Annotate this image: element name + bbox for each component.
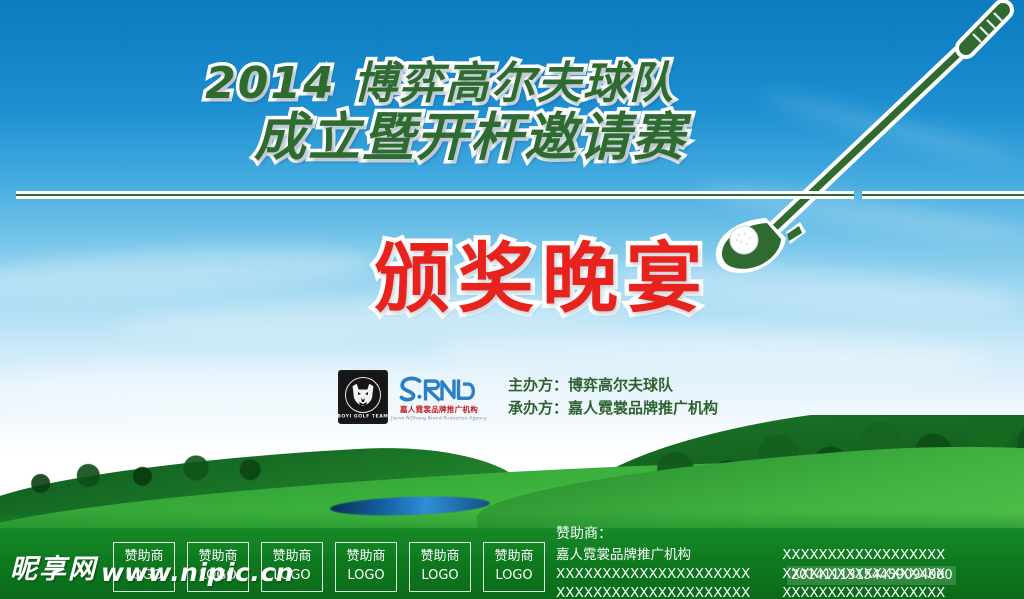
sponsor-box-logo-label: LOGO: [199, 567, 236, 586]
sponsor-box-logo-label: LOGO: [125, 567, 162, 586]
sponsor-logo-box[interactable]: 赞助商 LOGO: [335, 542, 397, 592]
sponsor-list-item: XXXXXXXXXXXXXXXXXXXXX: [556, 565, 750, 584]
sponsor-list-left: 嘉人霓裳品牌推广机构 XXXXXXXXXXXXXXXXXXXXX XXXXXXX…: [556, 546, 750, 599]
srnd-wordmark-icon: [397, 375, 481, 405]
sponsor-box-label: 赞助商: [346, 548, 385, 567]
sponsor-box-logo-label: LOGO: [347, 567, 384, 586]
sponsor-box-label: 赞助商: [124, 548, 163, 567]
sponsor-logo-box[interactable]: 赞助商 LOGO: [483, 542, 545, 592]
boyi-golf-team-logo: BOYI GOLF TEAM: [338, 370, 388, 424]
sponsor-box-logo-label: LOGO: [273, 567, 310, 586]
organizer-block: BOYI GOLF TEAM 嘉人霓裳品牌推广机构 Jiaren NiShang…: [338, 370, 718, 424]
sponsor-box-logo-label: LOGO: [495, 567, 532, 586]
headline-line-2: 成立暨开杆邀请赛: [0, 112, 880, 164]
sponsor-list-item: XXXXXXXXXXXXXXXXXXXXX: [556, 584, 750, 599]
divider-rule-left: [16, 191, 854, 199]
subtitle-text: 颁奖晚宴: [314, 241, 710, 317]
divider-rule-right: [862, 191, 1024, 199]
sponsor-box-logo-label: LOGO: [421, 567, 458, 586]
sponsor-logo-box[interactable]: 赞助商 LOGO: [187, 542, 249, 592]
team-logo-caption: BOYI GOLF TEAM: [337, 413, 388, 418]
srnd-logo-name-en: Jiaren NiShang Brand Protection Agency: [391, 415, 487, 421]
host-line: 主办方：博弈高尔夫球队: [508, 374, 718, 397]
sponsor-list-item: XXXXXXXXXXXXXXXXXX: [782, 565, 945, 584]
sponsor-list-item: XXXXXXXXXXXXXXXXXX: [782, 584, 945, 599]
organizer-line: 承办方：嘉人霓裳品牌推广机构: [508, 397, 718, 420]
sponsor-heading: 赞助商：: [556, 524, 945, 545]
sponsor-box-label: 赞助商: [420, 548, 459, 567]
sponsor-box-label: 赞助商: [272, 548, 311, 567]
organizer-text-block: 主办方：博弈高尔夫球队 承办方：嘉人霓裳品牌推广机构: [508, 374, 718, 421]
sponsor-box-label: 赞助商: [494, 548, 533, 567]
sponsor-logo-box[interactable]: 赞助商 LOGO: [409, 542, 471, 592]
sponsor-logo-box[interactable]: 赞助商 LOGO: [261, 542, 323, 592]
srnd-logo-name-cn: 嘉人霓裳品牌推广机构: [400, 404, 478, 415]
sponsor-logo-box[interactable]: 赞助商 LOGO: [113, 542, 175, 592]
sponsor-list-item: 嘉人霓裳品牌推广机构: [556, 546, 750, 565]
sponsor-logo-row: 赞助商 LOGO 赞助商 LOGO 赞助商 LOGO 赞助商 LOGO 赞助商 …: [113, 542, 545, 592]
subtitle-block: 颁奖晚宴: [0, 241, 1024, 317]
cloud-wisp: [700, 177, 1024, 249]
headline-line-1: 2014 博弈高尔夫球队: [0, 62, 880, 106]
headline-block: 2014 博弈高尔夫球队 成立暨开杆邀请赛: [0, 62, 880, 164]
srnd-agency-logo: 嘉人霓裳品牌推广机构 Jiaren NiShang Brand Protecti…: [396, 372, 482, 422]
sponsor-list-item: XXXXXXXXXXXXXXXXXX: [782, 546, 945, 565]
wolf-head-crest-icon: [345, 377, 381, 413]
sponsor-box-label: 赞助商: [198, 548, 237, 567]
sponsor-text-block: 赞助商： 嘉人霓裳品牌推广机构 XXXXXXXXXXXXXXXXXXXXX XX…: [556, 524, 945, 599]
poster-canvas: 2014 博弈高尔夫球队 成立暨开杆邀请赛 颁奖晚宴 BOYI GOLF TEA…: [0, 0, 1024, 599]
sponsor-list-right: XXXXXXXXXXXXXXXXXX XXXXXXXXXXXXXXXXXX XX…: [782, 546, 945, 599]
